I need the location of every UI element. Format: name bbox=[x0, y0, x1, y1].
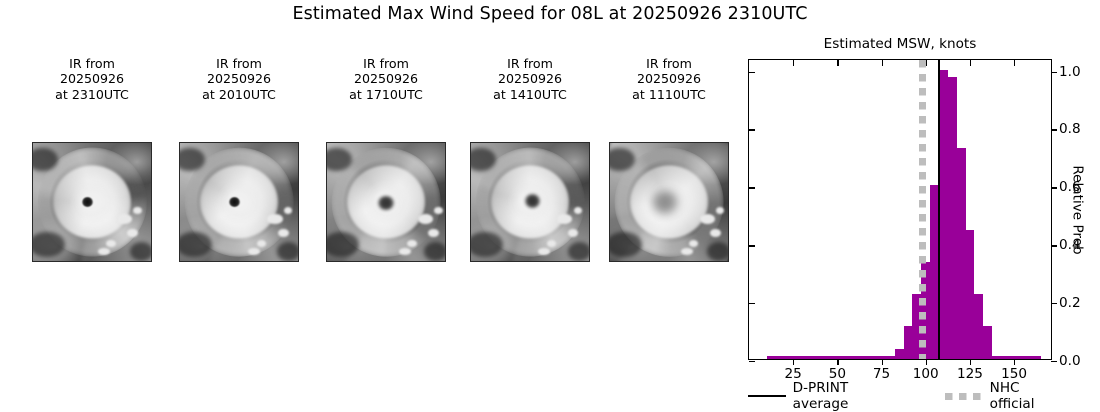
storm-eye bbox=[229, 197, 240, 208]
histogram-axes: 2550751001251500.00.20.40.60.81.0 bbox=[748, 59, 1052, 360]
figure-title: Estimated Max Wind Speed for 08L at 2025… bbox=[0, 4, 1100, 24]
y-axis-tick-left bbox=[749, 72, 755, 73]
convective-cell bbox=[278, 229, 289, 237]
thumbnail-caption: IR from 20250926 at 1110UTC bbox=[603, 56, 735, 104]
x-axis-tick-top bbox=[970, 60, 971, 66]
convective-cell bbox=[681, 248, 693, 255]
storm-eye bbox=[82, 197, 93, 208]
convective-cell bbox=[284, 207, 292, 214]
satellite-render bbox=[471, 143, 589, 261]
histogram-bar bbox=[966, 230, 975, 359]
x-axis-tick bbox=[970, 359, 971, 365]
histogram-bars bbox=[749, 60, 1051, 359]
histogram-baseline bbox=[767, 356, 1041, 359]
thumbnail-panel-1410utc: IR from 20250926 at 1410UTC bbox=[464, 56, 596, 262]
y-axis-tick bbox=[1051, 129, 1057, 130]
clear-air-region bbox=[707, 242, 729, 261]
convective-cell bbox=[98, 248, 110, 255]
legend-item-dprint-average: D-PRINT average bbox=[748, 380, 907, 412]
legend-label-dprint-average: D-PRINT average bbox=[793, 380, 907, 412]
figure-canvas: Estimated Max Wind Speed for 08L at 2025… bbox=[0, 0, 1100, 409]
x-axis-tick-label: 100 bbox=[913, 366, 939, 382]
x-axis-tick bbox=[1014, 359, 1015, 365]
convective-cell bbox=[267, 214, 282, 225]
x-axis-tick bbox=[926, 359, 927, 365]
storm-eye bbox=[378, 196, 393, 210]
y-axis-tick bbox=[1051, 72, 1057, 73]
histogram-bar bbox=[983, 326, 992, 359]
thumbnail-strip: IR from 20250926 at 2310UTCIR from 20250… bbox=[0, 56, 740, 286]
line-swatch-icon bbox=[748, 395, 786, 397]
y-axis-tick bbox=[1051, 187, 1057, 188]
chart-title: Estimated MSW, knots bbox=[748, 36, 1052, 52]
x-axis-tick bbox=[882, 359, 883, 365]
x-axis-tick bbox=[837, 359, 838, 365]
satellite-render bbox=[327, 143, 445, 261]
x-axis-tick-top bbox=[793, 60, 794, 66]
thumbnail-caption: IR from 20250926 at 2010UTC bbox=[173, 56, 305, 104]
convective-cell bbox=[574, 207, 582, 214]
ir-satellite-image bbox=[179, 142, 299, 262]
histogram-bar bbox=[904, 326, 913, 359]
thumbnail-caption: IR from 20250926 at 1710UTC bbox=[320, 56, 452, 104]
clear-air-region bbox=[424, 242, 446, 261]
y-axis-label: Relative Prob bbox=[1068, 59, 1088, 360]
storm-eye bbox=[525, 194, 540, 208]
thumbnail-panel-1710utc: IR from 20250926 at 1710UTC bbox=[320, 56, 452, 262]
convective-cell bbox=[399, 248, 411, 255]
y-axis-label-text: Relative Prob bbox=[1070, 165, 1086, 254]
chart-legend: D-PRINT average NHC official bbox=[748, 386, 1068, 406]
y-axis-tick bbox=[1051, 361, 1057, 362]
y-axis-tick-left bbox=[749, 187, 755, 188]
y-axis-tick-left bbox=[749, 303, 755, 304]
convective-cell bbox=[407, 240, 416, 247]
satellite-render bbox=[33, 143, 151, 261]
histogram-bar bbox=[948, 77, 957, 359]
x-axis-tick-top bbox=[882, 60, 883, 66]
thumbnail-caption: IR from 20250926 at 2310UTC bbox=[26, 56, 158, 104]
x-axis-tick-top bbox=[1014, 60, 1015, 66]
ir-satellite-image bbox=[609, 142, 729, 262]
legend-item-nhc-official: NHC official bbox=[945, 380, 1068, 412]
y-axis-tick bbox=[1051, 303, 1057, 304]
y-axis-tick-left bbox=[749, 129, 755, 130]
convective-cell bbox=[257, 240, 266, 247]
x-axis-tick-top bbox=[837, 60, 838, 66]
thumbnail-panel-1110utc: IR from 20250926 at 1110UTC bbox=[603, 56, 735, 262]
convective-cell bbox=[434, 207, 442, 214]
legend-label-nhc-official: NHC official bbox=[990, 380, 1068, 412]
thumbnail-panel-2310utc: IR from 20250926 at 2310UTC bbox=[26, 56, 158, 262]
y-axis-tick-left bbox=[749, 245, 755, 246]
clear-air-region bbox=[568, 242, 590, 261]
clear-air-region bbox=[130, 242, 152, 261]
x-axis-tick-top bbox=[926, 60, 927, 66]
ir-satellite-image bbox=[326, 142, 446, 262]
histogram-bar bbox=[939, 70, 948, 359]
storm-eye bbox=[652, 190, 678, 214]
satellite-render bbox=[180, 143, 298, 261]
ir-satellite-image bbox=[470, 142, 590, 262]
convective-cell bbox=[106, 240, 115, 247]
histogram-bar bbox=[957, 148, 966, 359]
ir-satellite-image bbox=[32, 142, 152, 262]
thumbnail-caption: IR from 20250926 at 1410UTC bbox=[464, 56, 596, 104]
reference-line-nhc-official bbox=[919, 60, 926, 359]
convective-cell bbox=[133, 207, 141, 214]
satellite-render bbox=[610, 143, 728, 261]
reference-line-dprint-average bbox=[938, 60, 940, 359]
dashed-line-swatch-icon bbox=[945, 393, 983, 400]
y-axis-tick bbox=[1051, 245, 1057, 246]
convective-cell bbox=[547, 240, 556, 247]
x-axis-tick bbox=[793, 359, 794, 365]
y-axis-tick-left bbox=[749, 361, 755, 362]
histogram-bar bbox=[974, 294, 983, 359]
thumbnail-panel-2010utc: IR from 20250926 at 2010UTC bbox=[173, 56, 305, 262]
clear-air-region bbox=[277, 242, 299, 261]
